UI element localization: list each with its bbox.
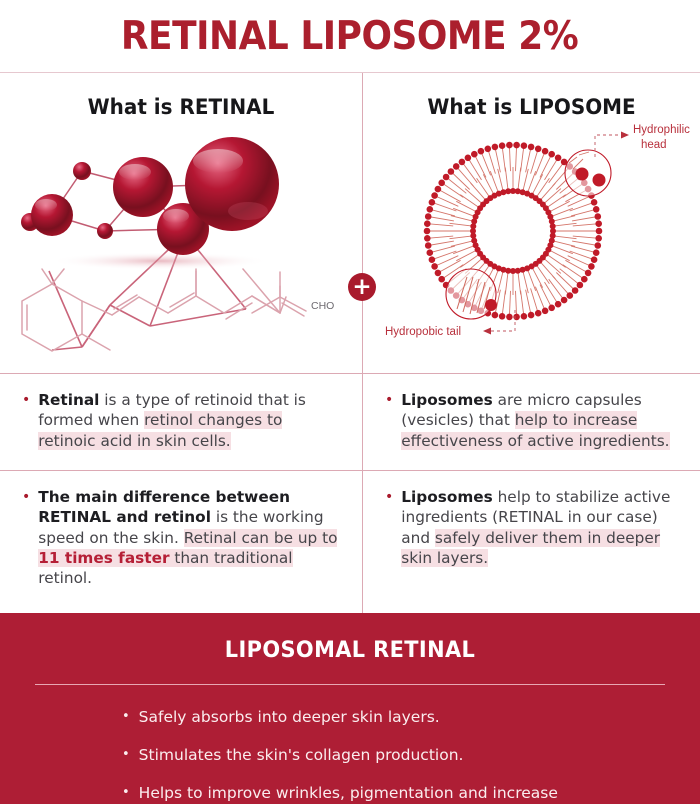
- benefit-text: Stimulates the skin's collagen productio…: [139, 745, 464, 765]
- retinal-illustration: CHO: [0, 119, 362, 357]
- list-item: • Retinal is a type of retinoid that is …: [22, 390, 342, 451]
- arrow-head-hydrophobic: [483, 328, 491, 335]
- fact-highlight-2: than traditional: [170, 549, 293, 567]
- bullet-dot: •: [22, 487, 30, 589]
- retinal-molecule-graphic: CHO: [0, 119, 362, 357]
- fact-lead-term: Retinal: [38, 391, 99, 409]
- liposome-fact-2-cell: • Liposomes help to stabilize active ing…: [362, 471, 700, 615]
- hydrophobic-tail-callout: [446, 269, 497, 319]
- facts-row-2: • The main difference between RETINAL an…: [0, 470, 700, 615]
- panel-title: LIPOSOMAL RETINAL: [18, 613, 683, 663]
- facts-row-1: • Retinal is a type of retinoid that is …: [0, 373, 700, 470]
- arrow-head-hydrophilic: [621, 132, 629, 139]
- retinal-column: What is RETINAL: [0, 73, 362, 373]
- bullet-dot: •: [385, 487, 393, 568]
- fact-highlight: safely deliver them in deeper skin layer…: [401, 529, 660, 567]
- fact-text-tail: retinol.: [38, 569, 92, 587]
- bullet-dot: •: [122, 745, 130, 765]
- liposome-illustration: Hydrophilic head Hydropobic tail: [363, 119, 700, 357]
- list-item: • Helps to improve wrinkles, pigmentatio…: [122, 783, 592, 804]
- fact-lead-term: Liposomes: [401, 488, 492, 506]
- label-hydrophilic-head-line1: Hydrophilic: [633, 124, 690, 136]
- column-heading-retinal: What is RETINAL: [9, 73, 353, 119]
- retinal-fact-2-cell: • The main difference between RETINAL an…: [0, 471, 362, 615]
- liposomal-retinal-panel: LIPOSOMAL RETINAL • Safely absorbs into …: [0, 613, 700, 804]
- illustration-row: What is RETINAL: [0, 73, 700, 373]
- comparison-grid: What is RETINAL: [0, 72, 700, 615]
- bullet-dot: •: [122, 707, 130, 727]
- list-item: • Liposomes help to stabilize active ing…: [385, 487, 680, 568]
- retinal-fact-1-cell: • Retinal is a type of retinoid that is …: [0, 374, 362, 470]
- bullet-dot: •: [22, 390, 30, 451]
- benefit-text: Helps to improve wrinkles, pigmentation …: [139, 783, 592, 804]
- list-item: • Safely absorbs into deeper skin layers…: [122, 707, 592, 727]
- fact-highlight-emphasis: 11 times faster: [38, 549, 169, 567]
- list-item: • Liposomes are micro capsules (vesicles…: [385, 390, 680, 451]
- liposome-fact-1-cell: • Liposomes are micro capsules (vesicles…: [362, 374, 700, 470]
- list-item: • Stimulates the skin's collagen product…: [122, 745, 592, 765]
- bullet-dot: •: [385, 390, 393, 451]
- hydrophilic-head-callout: [565, 150, 611, 196]
- formula-label-cho: CHO: [311, 300, 334, 312]
- label-hydrophilic-head-line2: head: [641, 139, 667, 151]
- bullet-dot: •: [122, 783, 130, 804]
- list-item: • The main difference between RETINAL an…: [22, 487, 342, 589]
- fact-lead-term: Liposomes: [401, 391, 492, 409]
- liposome-column: What is LIPOSOME: [362, 73, 700, 373]
- panel-benefit-list: • Safely absorbs into deeper skin layers…: [0, 685, 700, 804]
- title-bar: RETINAL LIPOSOME 2%: [0, 0, 700, 72]
- page-title: RETINAL LIPOSOME 2%: [121, 14, 578, 59]
- column-heading-liposome: What is LIPOSOME: [371, 73, 691, 119]
- label-hydrophobic-tail: Hydropobic tail: [385, 326, 461, 338]
- fact-highlight: Retinal can be up to: [184, 529, 338, 547]
- plus-combine-badge: +: [348, 273, 376, 301]
- liposome-vesicle-graphic: Hydrophilic head Hydropobic tail: [363, 119, 700, 357]
- benefit-text: Safely absorbs into deeper skin layers.: [139, 707, 440, 727]
